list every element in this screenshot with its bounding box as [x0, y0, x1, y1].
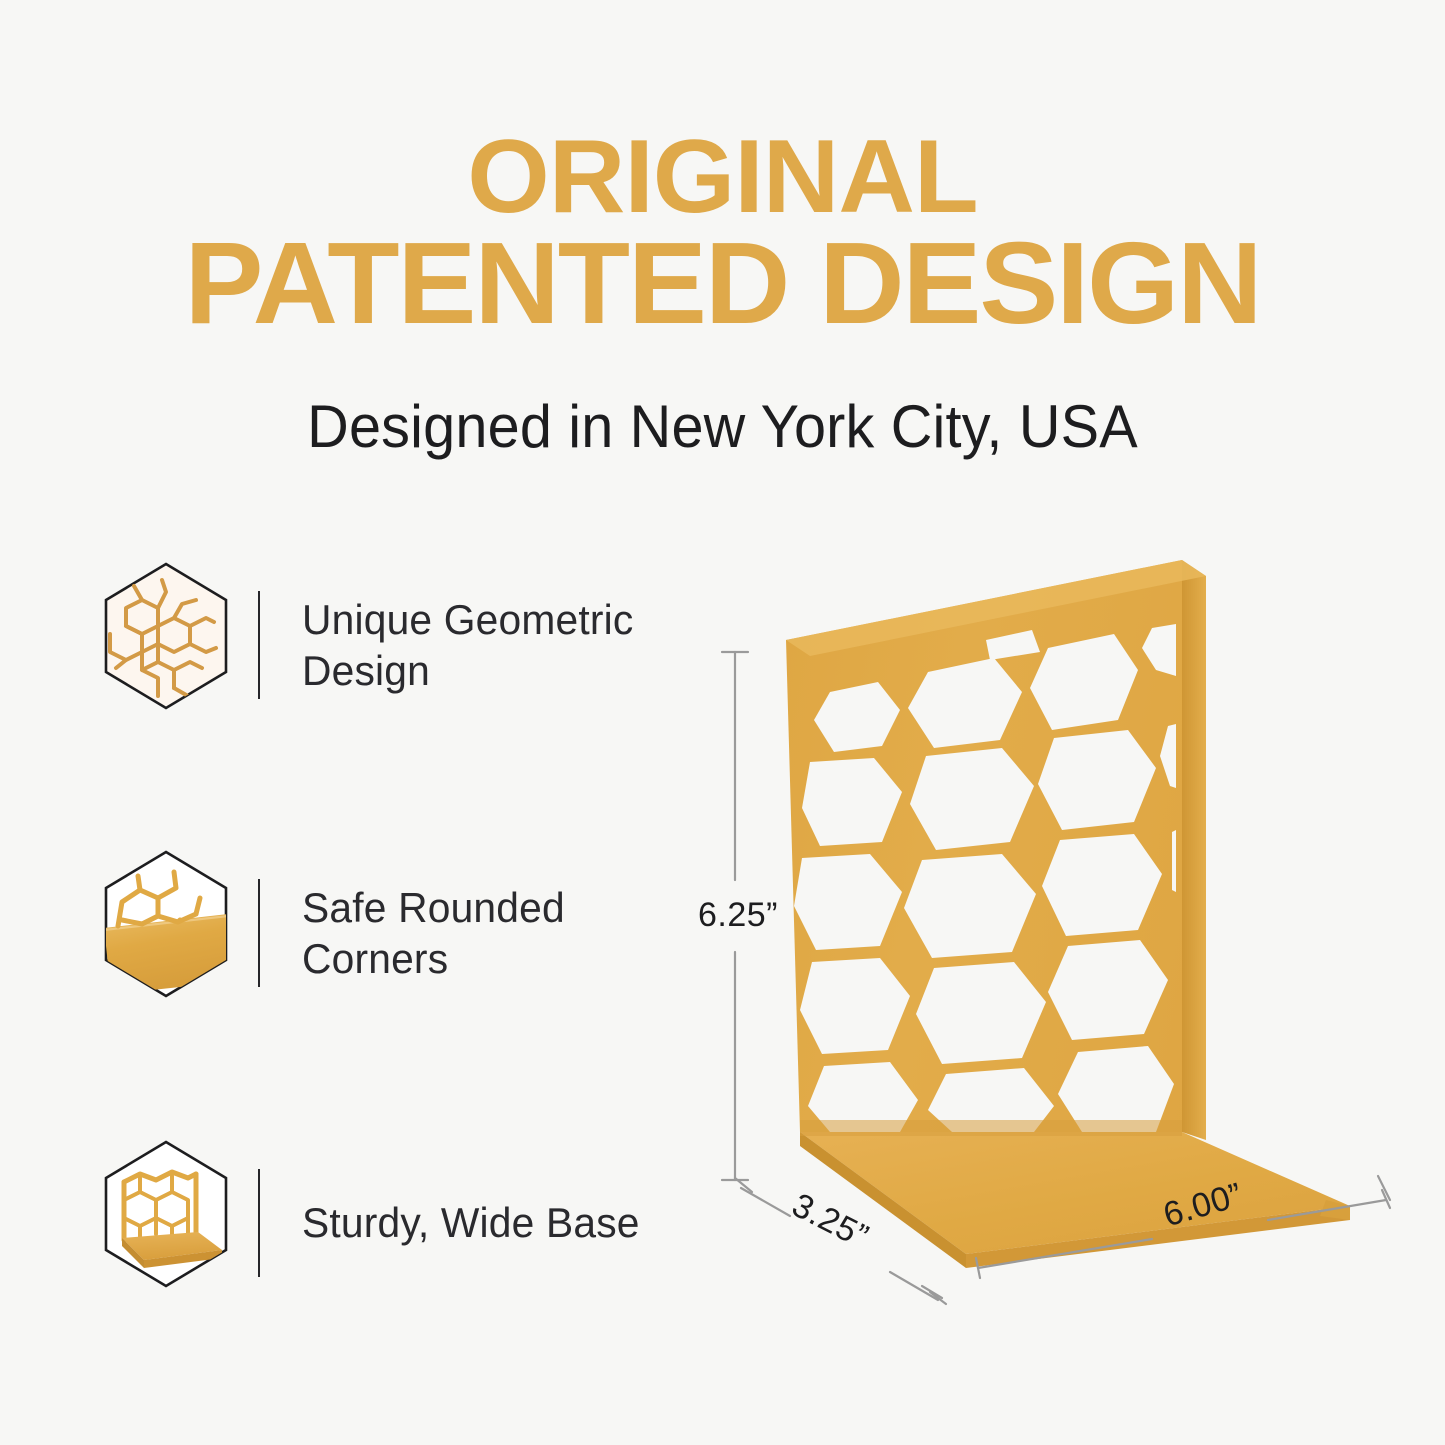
dimension-annotations: [0, 0, 1445, 1445]
dimension-label-height: 6.25”: [698, 896, 778, 935]
infographic-canvas: ORIGINAL PATENTED DESIGN Designed in New…: [0, 0, 1445, 1445]
